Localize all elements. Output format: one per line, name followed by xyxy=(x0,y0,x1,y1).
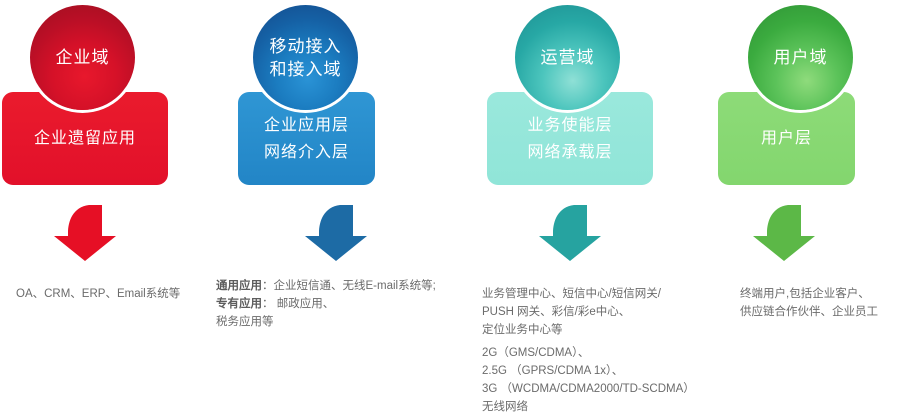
caption-line: 无线网络 xyxy=(482,398,695,416)
domain-label: 用户域 xyxy=(774,46,828,69)
caption-text: ： 邮政应用、 xyxy=(262,298,334,310)
domain-label: 企业域 xyxy=(56,46,110,69)
layer-label: 网络介入层 xyxy=(264,139,349,166)
caption-line: 通用应用：企业短信通、无线E-mail系统等; xyxy=(216,277,436,295)
caption-line: 3G （WCDMA/CDMA2000/TD-SCDMA） xyxy=(482,380,695,398)
domain-label: 运营域 xyxy=(541,46,595,69)
down-arrow-red xyxy=(51,203,119,263)
domain-circle-mobile[interactable]: 移动接入 和接入域 xyxy=(253,5,358,110)
caption-line: 2G（GMS/CDMA）、 xyxy=(482,344,695,362)
caption-line: OA、CRM、ERP、Email系统等 xyxy=(16,285,180,303)
caption-line: 税务应用等 xyxy=(216,313,436,331)
caption-line: 定位业务中心等 xyxy=(482,321,661,339)
layer-label: 业务使能层 xyxy=(527,112,612,139)
caption-text: ：企业短信通、无线E-mail系统等; xyxy=(262,280,436,292)
caption-lead: 通用应用 xyxy=(216,280,262,292)
down-arrow-teal xyxy=(536,203,604,263)
down-arrow-blue xyxy=(302,203,370,263)
caption-mobile-access: 通用应用：企业短信通、无线E-mail系统等; 专有应用： 邮政应用、 税务应用… xyxy=(216,277,436,331)
caption-operation: 业务管理中心、短信中心/短信网关/ PUSH 网关、彩信/彩e中心、 定位业务中… xyxy=(482,285,661,339)
caption-line: 2.5G （GPRS/CDMA 1x）、 xyxy=(482,362,695,380)
caption-enterprise: OA、CRM、ERP、Email系统等 xyxy=(16,285,180,303)
domain-label: 和接入域 xyxy=(270,58,342,81)
caption-user: 终端用户,包括企业客户、 供应链合作伙伴、企业员工 xyxy=(740,285,878,321)
caption-line: 终端用户,包括企业客户、 xyxy=(740,285,878,303)
layer-label: 用户层 xyxy=(761,129,812,149)
layer-label: 企业遗留应用 xyxy=(34,129,136,149)
domain-circle-enterprise[interactable]: 企业域 xyxy=(30,5,135,110)
domain-architecture-diagram: 企业遗留应用 企业域 OA、CRM、ERP、Email系统等 企业应用层 网络介… xyxy=(0,0,900,404)
column-enterprise: 企业遗留应用 企业域 OA、CRM、ERP、Email系统等 xyxy=(0,0,230,404)
caption-operation-network: 2G（GMS/CDMA）、 2.5G （GPRS/CDMA 1x）、 3G （W… xyxy=(482,344,695,416)
layer-label: 企业应用层 xyxy=(264,112,349,139)
column-user: 用户层 用户域 xyxy=(680,0,900,404)
column-mobile-access: 企业应用层 网络介入层 移动接入 和接入域 xyxy=(230,0,460,404)
caption-line: 专有应用： 邮政应用、 xyxy=(216,295,436,313)
domain-label: 移动接入 xyxy=(270,35,342,58)
caption-line: 业务管理中心、短信中心/短信网关/ xyxy=(482,285,661,303)
domain-circle-user[interactable]: 用户域 xyxy=(748,5,853,110)
domain-circle-operation[interactable]: 运营域 xyxy=(515,5,620,110)
caption-line: PUSH 网关、彩信/彩e中心、 xyxy=(482,303,661,321)
down-arrow-green xyxy=(750,203,818,263)
caption-line: 供应链合作伙伴、企业员工 xyxy=(740,303,878,321)
caption-lead: 专有应用 xyxy=(216,298,262,310)
layer-label: 网络承载层 xyxy=(527,139,612,166)
